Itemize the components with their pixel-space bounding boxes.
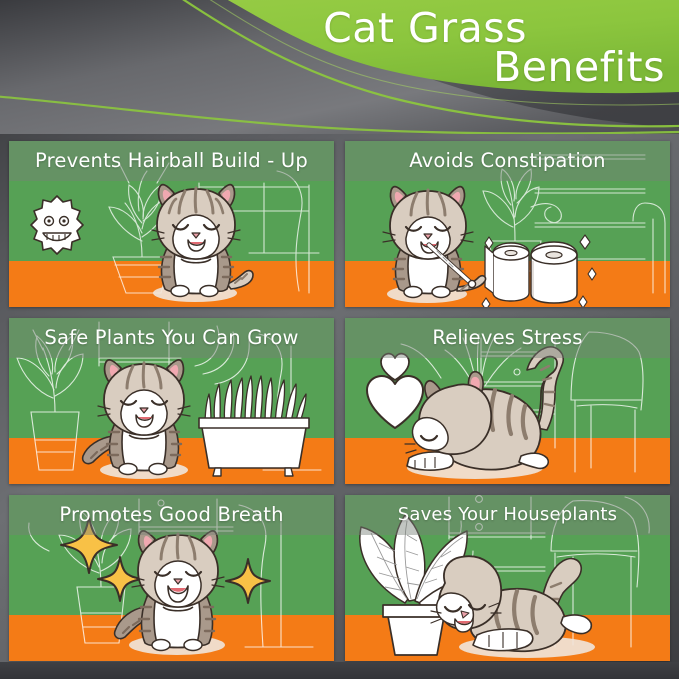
- toilet-paper-rolls: [485, 242, 577, 303]
- grass-planter-box: [199, 376, 309, 476]
- hairball-icon: [31, 196, 83, 254]
- panel-title: Promotes Good Breath: [9, 498, 334, 532]
- panel-title: Safe Plants You Can Grow: [9, 321, 334, 355]
- hearts: [367, 354, 423, 428]
- benefits-grid: Prevents Hairball Build - Up: [9, 141, 670, 662]
- poster-title-line-2: Benefits: [493, 47, 665, 88]
- panel-title: Saves Your Houseplants: [345, 498, 670, 532]
- benefit-panel-prevents-hairball[interactable]: Prevents Hairball Build - Up: [9, 141, 334, 307]
- cat-sitting-happy: [83, 360, 190, 479]
- footer-strip: [0, 662, 679, 679]
- cat-stretching: [405, 347, 563, 479]
- panel-title: Relieves Stress: [345, 321, 670, 355]
- benefit-panel-saves-houseplants[interactable]: Saves Your Houseplants: [345, 495, 670, 661]
- poster-header: Cat Grass Benefits: [0, 0, 679, 134]
- cat-sitting-thermometer: [383, 187, 486, 303]
- benefit-panel-promotes-good-breath[interactable]: Promotes Good Breath: [9, 495, 334, 661]
- panel-title: Prevents Hairball Build - Up: [9, 144, 334, 178]
- benefit-panel-avoids-constipation[interactable]: Avoids Constipation: [345, 141, 670, 307]
- benefit-panel-safe-plants[interactable]: Safe Plants You Can Grow: [9, 318, 334, 484]
- cat-sitting-happy: [115, 531, 225, 655]
- panel-title: Avoids Constipation: [345, 144, 670, 178]
- cat-lounging: [431, 556, 595, 658]
- infographic-poster: Cat Grass Benefits: [0, 0, 679, 679]
- cat-sitting-happy: [152, 185, 253, 302]
- benefit-panel-relieves-stress[interactable]: Relieves Stress: [345, 318, 670, 484]
